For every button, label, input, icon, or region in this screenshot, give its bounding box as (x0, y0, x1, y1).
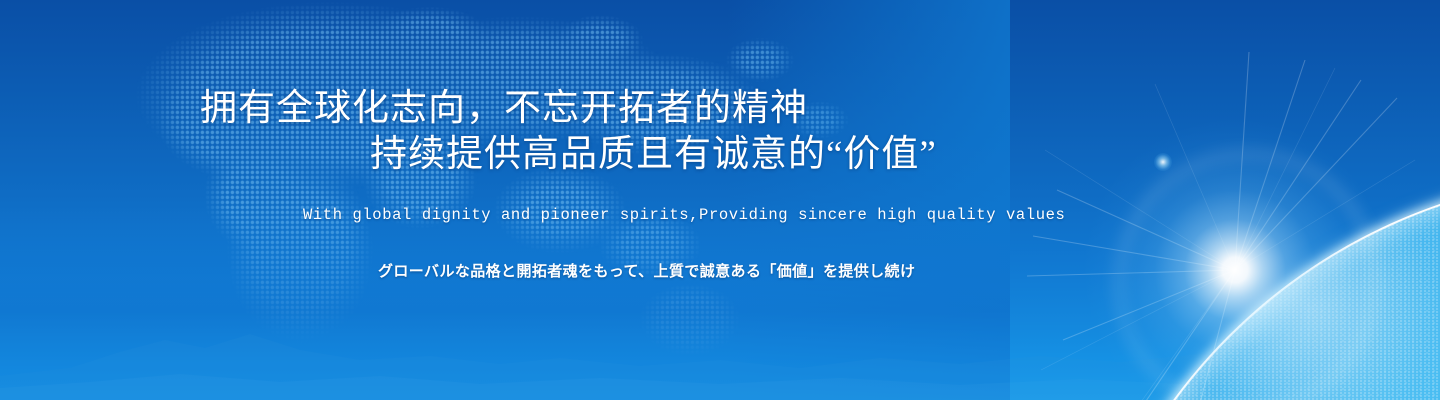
headline: 拥有全球化志向，不忘开拓者的精神 持续提供高品质且有诚意的“价值” (200, 86, 937, 178)
subline-english: With global dignity and pioneer spirits,… (303, 206, 1065, 224)
subline-japanese: グローバルな品格と開拓者魂をもって、上質で誠意ある「価値」を提供し続け (378, 260, 915, 281)
headline-line-1: 拥有全球化志向，不忘开拓者的精神 (200, 88, 808, 129)
hero-banner: 拥有全球化志向，不忘开拓者的精神 持续提供高品质且有诚意的“价值” With g… (0, 0, 1440, 400)
headline-line-2: 持续提供高品质且有诚意的“价值” (200, 132, 937, 178)
banner-copy: 拥有全球化志向，不忘开拓者的精神 持续提供高品质且有诚意的“价值” With g… (0, 0, 1440, 400)
